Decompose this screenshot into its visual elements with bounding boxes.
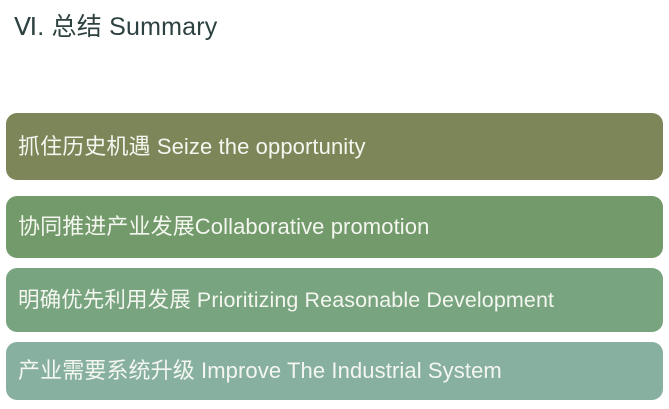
summary-points-list: 抓住历史机遇 Seize the opportunity 协同推进产业发展Col… bbox=[0, 0, 669, 409]
summary-point-1[interactable]: 抓住历史机遇 Seize the opportunity bbox=[6, 113, 663, 180]
summary-point-1-label: 抓住历史机遇 Seize the opportunity bbox=[6, 134, 374, 160]
summary-point-3-label: 明确优先利用发展 Prioritizing Reasonable Develop… bbox=[6, 287, 562, 313]
summary-point-2[interactable]: 协同推进产业发展Collaborative promotion bbox=[6, 196, 663, 258]
summary-point-3[interactable]: 明确优先利用发展 Prioritizing Reasonable Develop… bbox=[6, 268, 663, 332]
summary-point-4-label: 产业需要系统升级 Improve The Industrial System bbox=[6, 358, 510, 384]
summary-point-2-label: 协同推进产业发展Collaborative promotion bbox=[6, 214, 437, 240]
summary-point-4[interactable]: 产业需要系统升级 Improve The Industrial System bbox=[6, 342, 663, 400]
summary-slide: Ⅵ. 总结 Summary 抓住历史机遇 Seize the opportuni… bbox=[0, 0, 669, 409]
